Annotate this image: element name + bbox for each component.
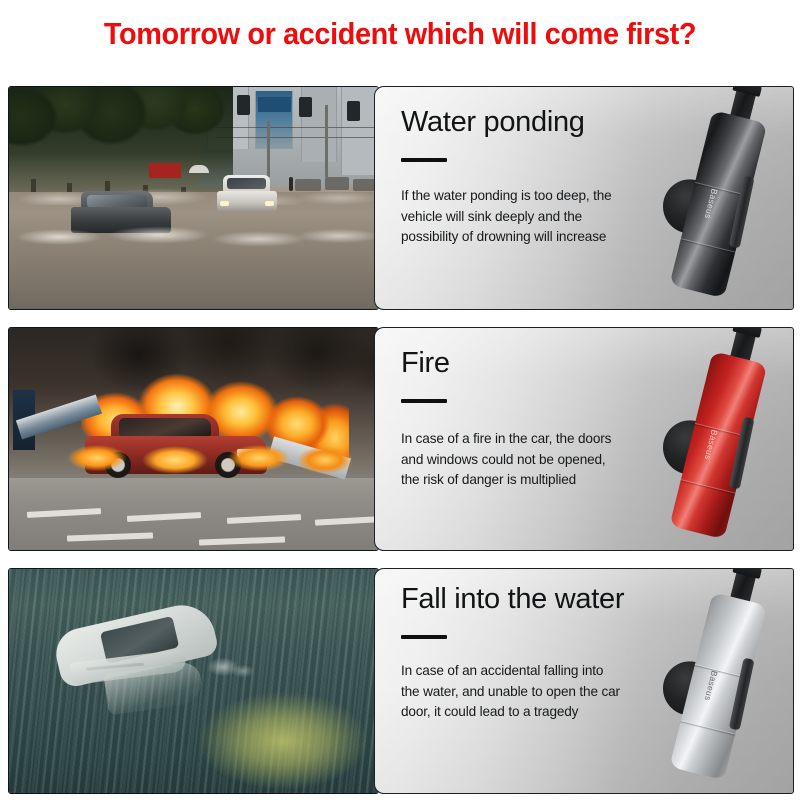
photo-flooded-street	[8, 86, 379, 310]
overhead-wire	[215, 137, 379, 138]
pocket-clip	[729, 176, 755, 249]
info-panel-water-ponding: Water ponding If the water ponding is to…	[374, 86, 794, 310]
info-content: Fall into the water In case of an accide…	[375, 569, 625, 722]
traffic-light-icon	[237, 95, 250, 115]
panel-description: In case of an accidental falling into th…	[401, 661, 623, 721]
body-seam	[681, 238, 736, 253]
utility-pole	[267, 121, 270, 177]
lanyard-strap	[728, 568, 759, 609]
traffic-light-icon	[299, 97, 312, 117]
brand-logo-text: Baseus	[703, 670, 720, 702]
info-content: Water ponding If the water ponding is to…	[375, 87, 625, 247]
cutter-blade	[689, 185, 709, 234]
lanyard-strap	[728, 86, 759, 127]
title-divider	[401, 635, 447, 639]
white-sedan-in-flood	[217, 175, 277, 211]
photo-submerged-car	[8, 568, 379, 794]
device-group: Baseus	[667, 336, 777, 551]
device-group: Baseus	[667, 577, 777, 792]
feature-row-fire: Fire In case of a fire in the car, the d…	[8, 327, 794, 551]
seatbelt-cutter-disc	[657, 174, 722, 239]
feature-row-water-ponding: Water ponding If the water ponding is to…	[8, 86, 794, 310]
panel-description: In case of a fire in the car, the doors …	[401, 429, 623, 489]
info-panel-fall-into-water: Fall into the water In case of an accide…	[374, 568, 794, 794]
overhead-wire	[215, 127, 379, 128]
product-infographic-page: Tomorrow or accident which will come fir…	[0, 0, 800, 800]
body-seam	[681, 479, 736, 494]
headlight	[220, 201, 229, 206]
traffic-light-icon	[347, 101, 360, 121]
product-image-black-safety-hammer: Baseus	[665, 89, 785, 310]
car-windshield	[119, 418, 211, 436]
body-seam	[695, 423, 750, 438]
body-seam	[695, 182, 750, 197]
pocket-clip	[729, 417, 755, 490]
cutter-blade	[689, 426, 709, 475]
feature-row-fall-into-water: Fall into the water In case of an accide…	[8, 568, 794, 794]
device-body	[669, 592, 767, 780]
pocket-clip	[729, 658, 755, 731]
page-title: Tomorrow or accident which will come fir…	[28, 16, 772, 52]
seatbelt-cutter-disc	[657, 415, 722, 480]
title-divider	[401, 399, 447, 403]
info-content: Fire In case of a fire in the car, the d…	[375, 328, 625, 490]
device-body	[669, 351, 767, 539]
device-group: Baseus	[667, 95, 777, 310]
panel-title: Fire	[401, 347, 625, 379]
red-street-sign	[149, 163, 181, 178]
utility-pole	[325, 105, 328, 177]
ground-flames	[67, 436, 357, 482]
water-splash	[205, 653, 257, 683]
info-panel-fire: Fire In case of a fire in the car, the d…	[374, 327, 794, 551]
panel-title: Fall into the water	[401, 583, 625, 615]
panel-description: If the water ponding is too deep, the ve…	[401, 186, 623, 246]
product-image-silver-safety-hammer: Baseus	[665, 571, 785, 794]
cutter-blade	[689, 667, 709, 716]
panel-title: Water ponding	[401, 106, 625, 138]
brand-logo-text: Baseus	[703, 429, 720, 461]
body-seam	[695, 664, 750, 679]
body-seam	[681, 720, 736, 735]
title-divider	[401, 158, 447, 162]
umbrella-shape	[189, 165, 209, 173]
headlight	[265, 201, 274, 206]
seatbelt-cutter-disc	[657, 656, 722, 721]
photo-burning-car	[8, 327, 379, 551]
device-body	[669, 110, 767, 298]
billboard-sign	[258, 97, 291, 112]
car-windshield	[227, 178, 266, 189]
lanyard-strap	[728, 327, 759, 368]
water-foam	[9, 225, 379, 251]
product-image-red-safety-hammer: Baseus	[665, 330, 785, 551]
brand-logo-text: Baseus	[703, 188, 720, 220]
water-foam	[9, 187, 379, 205]
